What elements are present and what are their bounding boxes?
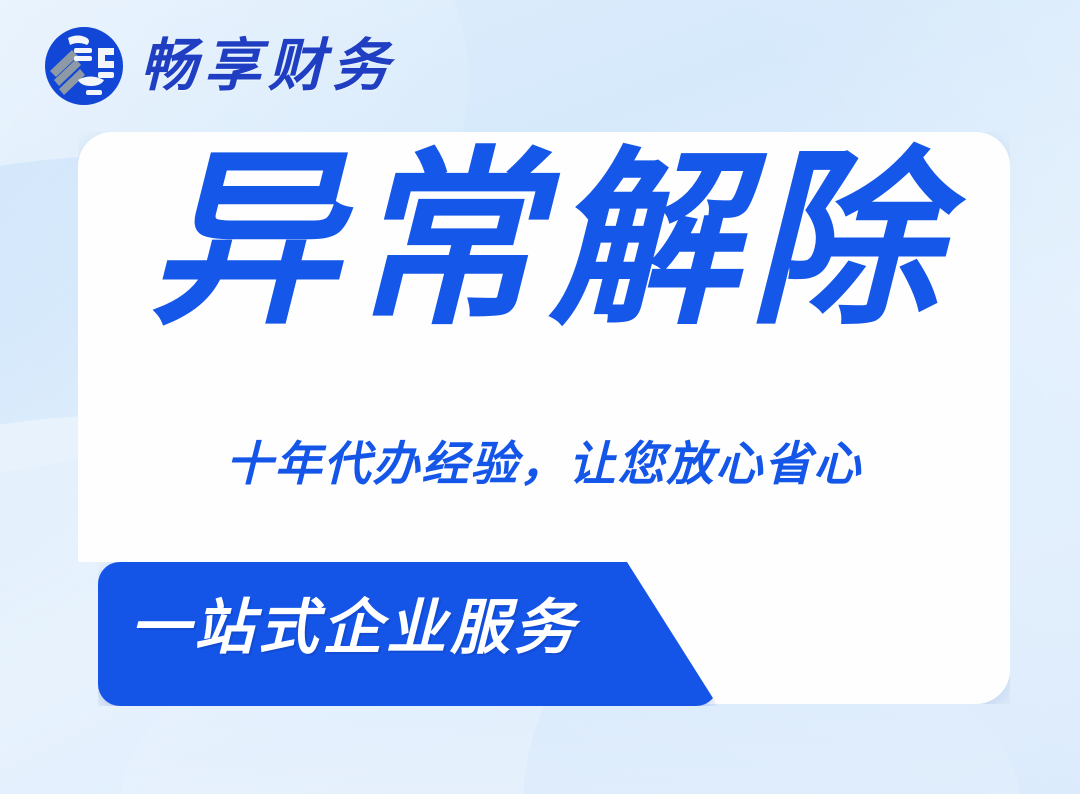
brand-name: 畅享财务: [140, 38, 396, 95]
service-ribbon-label: 一站式企业服务: [130, 592, 578, 664]
subheadline-text: 十年代办经验，让您放心省心: [78, 438, 1010, 490]
headline-text: 异常解除: [78, 146, 1010, 336]
circular-seal-logo-icon: [42, 24, 126, 108]
poster-canvas: 畅享财务 异常解除 十年代办经验，让您放心省心 一站式企业服务: [0, 0, 1080, 794]
brand-header: 畅享财务: [42, 22, 396, 110]
